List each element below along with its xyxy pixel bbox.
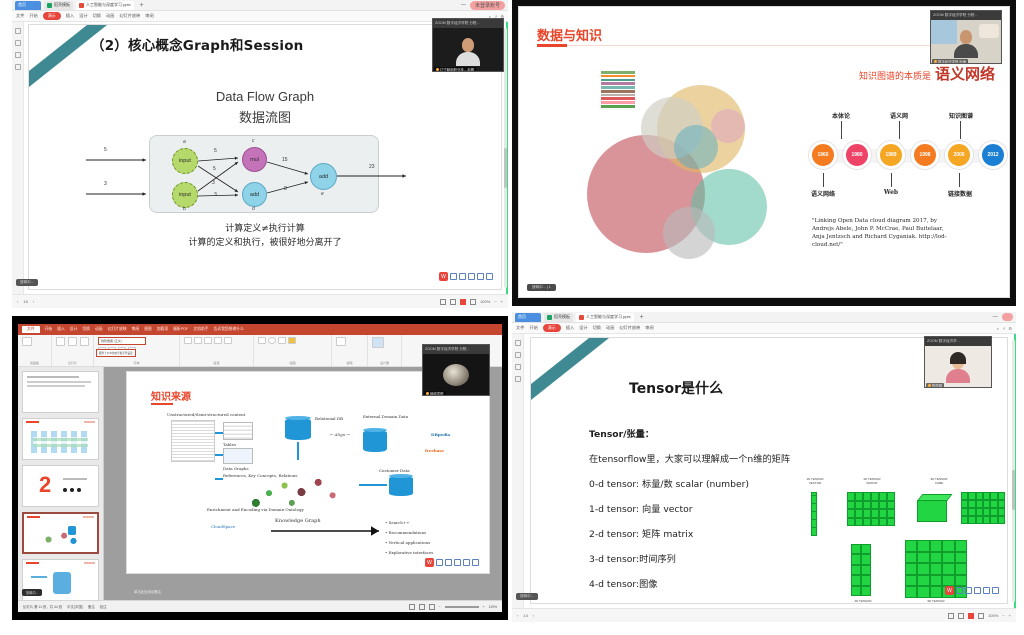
dfg-heading-en: Data Flow Graph [29,89,501,104]
pptx-file-icon [579,315,584,320]
knowledge-source-diagram: Unstructured/Semi-structured content Tab… [167,412,479,567]
title-underline-light [537,45,989,46]
pointer-icon[interactable] [459,273,466,280]
ribbon-group-designer-label: 设计器 [380,361,389,365]
zoom-video-tile: 数字经济学院 孙海 [931,20,1001,64]
rail-icon-thumbnail[interactable] [15,40,21,46]
tab-presentation[interactable]: 人工智能与深度学习.pptx [576,313,634,322]
wps-logo-icon: W [439,272,448,281]
timeline-dot-5-year: 2012 [987,152,998,158]
timeline-arrow-below-2 [959,173,960,187]
thumbnail-3-number: 2 [39,474,51,496]
slide-thumbnail-panel[interactable]: 2 放映中... [18,367,104,600]
zoom-level-label[interactable]: 100% [988,613,998,618]
timeline-dot-1-year: 1980 [851,152,862,158]
slide-title: Tensor是什么 [629,378,723,398]
wps-status-bar[interactable]: ‹ 15 › 100% − + [12,294,508,308]
tab-presentation-label: 人工智能与深度学习.pptx [586,314,631,320]
diagram-label-9: Customer Data [379,468,410,473]
diagram-label-12: Knowledge Graph [275,518,321,524]
font-family-combo[interactable]: 微软雅黑 (正文) [98,337,146,345]
output-edge-value: 23 [369,164,375,170]
view-reading-icon[interactable] [978,613,984,619]
avatar [455,36,481,66]
zoom-in-icon[interactable]: + [483,605,485,609]
ribbon-group-drawing-label: 绘图 [289,361,295,365]
ribbon-group-editing[interactable]: 编辑 [332,335,368,366]
input-edge-top-value: 5 [104,147,107,153]
bullet-3: • Explorative interfaces [385,550,433,555]
shape-rect-icon[interactable] [258,337,266,344]
pointer-icon[interactable] [965,587,972,594]
new-tab-button[interactable]: + [137,2,147,9]
zoom-header-label: ZOOM 数字经济学院 分院... [435,21,480,26]
tab-presentation-label: 人工智能与深度学习.pptx [86,2,131,8]
zoom-video-overlay[interactable]: ZOOM 数字经济学... 陈丽明 [924,336,992,388]
designer-icon[interactable] [372,337,384,348]
ribbon-group-font-label: 字体 [133,361,139,365]
ribbon-tab-foxit[interactable]: 福昕PDF [173,327,188,332]
tensor-art-label-4: 5D TENSOR MATRIX OF CUBES [903,600,969,604]
minimize-icon[interactable]: — [993,314,998,320]
scrollbar-thumb[interactable] [504,148,507,188]
kg-claim-highlight: 语义网络 [935,63,995,84]
status-pill-label: 放映中... [20,280,34,285]
avatar [953,28,979,58]
tensor-line-2: 0-d tensor: 标量/数 scalar (number) [589,476,790,490]
zoom-overlay-header: ZOOM 数字经济学院 分院... [931,11,1001,20]
slide-title: （2）核心概念Graph和Session [91,34,303,54]
wps-floating-toolbar[interactable]: W [945,586,999,595]
toolbar-item-insert[interactable]: 插入 [566,325,574,331]
tensor-3d-cube [917,500,947,522]
wps-doc-icon [47,3,52,8]
slide-thumbnail-4[interactable] [22,512,99,554]
diagram-label-7: DBpedia [431,432,450,437]
zoom-participant-name: 辽宁邮电职业技... 赵刚 [434,67,476,72]
rail-icon-comment[interactable] [515,376,521,382]
zoom-in-icon[interactable]: + [1009,613,1011,618]
pen-icon[interactable] [450,273,457,280]
timeline-arrow-above-0 [841,121,842,139]
slide-thumbnail-2[interactable] [22,418,99,460]
toolbar-item-design[interactable]: 设计 [79,13,87,19]
ribbon-tab-design[interactable]: 设计 [70,327,78,332]
annotation-toolbar[interactable]: W [425,558,479,567]
account-pill[interactable] [1002,313,1013,321]
teal-corner-inner [531,338,589,384]
zoom-video-overlay[interactable]: ZOOM 数字经济学院 分院... 网络学院 [422,344,490,396]
timeline-arrow-below-1 [891,173,892,187]
status-right-group[interactable]: 100% − + [948,613,1011,619]
timeline-label-below-1: Web [867,189,915,196]
rail-icon-thumbnail[interactable] [515,352,521,358]
tab-home-label: 首页 [18,2,26,8]
zoom-overlay-header: ZOOM 数字经济学... [925,337,991,346]
layout-button[interactable] [68,337,77,346]
slide-footer-line-1: 计算定义≠执行计算 [29,221,501,234]
ribbon-tab-slideshow[interactable]: 幻灯片放映 [108,327,127,332]
toolbar-right-icons[interactable]: ⌕ ↗ ⚙ [997,326,1012,331]
page-nav-next[interactable]: › [33,299,34,304]
timeline-dot-0: 1960 [809,141,837,169]
diagram-label-5: External Domain Data [363,414,408,419]
ribbon-group-drawing[interactable]: 绘图 [254,335,332,366]
align-left-button[interactable] [204,337,212,344]
kg-claim: 知识图谱的本质是 语义网络 [859,63,995,84]
toolbar-item-insert[interactable]: 插入 [66,13,74,19]
zoom-participant-name: 陈丽明 [926,383,944,388]
recording-status-pill: 放映中... | 1 [527,284,556,291]
diagram-label-11: CloudSpace [211,524,235,529]
more-icon[interactable] [992,587,999,594]
notes-placeholder[interactable]: 单击此处添加备注 [134,589,161,594]
bullet-0: • Search++ [385,520,433,525]
rail-icon-outline[interactable] [15,28,21,34]
minimize-icon[interactable]: — [461,2,466,8]
timeline-dot-5: 2012 [979,141,1007,169]
new-slide-button[interactable] [56,337,65,346]
wps-floating-toolbar[interactable]: W [439,272,493,281]
zoom-participant-name: 网络学院 [424,391,446,396]
mic-icon[interactable] [468,273,475,280]
status-right-group[interactable]: − + 119% [409,604,497,610]
kg-claim-prefix: 知识图谱的本质是 [859,69,931,82]
pen-icon[interactable] [956,587,963,594]
zoom-in-icon[interactable]: + [501,299,503,304]
timeline-arrow-above-2 [960,121,961,139]
timeline-dot-3: 1998 [911,141,939,169]
gear-icon[interactable]: ⚙ [1008,326,1012,331]
tensor-art-label-0: 1D TENSOR VECTOR [795,478,835,486]
vertical-scrollbar[interactable] [1012,340,1015,602]
wps-left-rail[interactable] [512,334,524,608]
ribbon-group-font[interactable]: 微软雅黑 (正文) 字体 服务于公众的文字和字符设定 [94,335,180,366]
toolbar-item-review[interactable]: 审阅 [645,325,653,331]
page-indicator[interactable]: 14 [523,613,527,618]
present-button[interactable]: 演示 [543,324,561,332]
bullets-button[interactable] [184,337,192,344]
tensor-line-4: 2-d tensor: 矩阵 matrix [589,526,790,540]
rail-icon-comment[interactable] [15,64,21,70]
wps-tab-strip[interactable]: 首页 稻壳模板 人工智能与深度学习.pptx + — 未登录账号 [12,0,508,11]
zoom-video-overlay[interactable]: ZOOM 数字经济学院 分院... 辽宁邮电职业技... 赵刚 [432,18,504,72]
ribbon-group-clipboard-label: 剪贴板 [30,361,39,365]
page-nav-next[interactable]: › [533,613,534,618]
lod-legend [601,71,635,109]
page-nav-prev[interactable]: ‹ [517,613,518,618]
tensor-definition-list: Tensor/张量： 在tensorflow里，大家可以理解成一个n维的矩阵 0… [589,426,790,604]
tensor-1d-vector [811,492,817,536]
view-reading-icon[interactable] [470,299,476,305]
tensor-line-6: 4-d tensor:图像 [589,576,790,590]
tab-templates[interactable]: 稻壳模板 [544,313,573,322]
slide-title: 知识来源 [151,388,191,403]
timeline-label-below-0: 语义网络 [799,189,847,198]
diagram-label-0: Unstructured/Semi-structured content [167,412,245,417]
ribbon-tab-home[interactable]: 开始 [45,327,53,332]
timeline-label-above-2: 知识图谱 [937,111,985,120]
recording-status-pill: 放映中... [516,593,538,600]
mic-icon[interactable] [454,559,461,566]
tensor-art-label-2: 3D TENSOR CUBE [915,478,963,486]
toolbar-item-review[interactable]: 审阅 [145,13,153,19]
zoom-slider[interactable] [445,606,479,608]
view-normal-icon[interactable] [948,613,954,619]
screen-icon[interactable] [983,587,990,594]
zoom-level-label[interactable]: 119% [489,605,497,609]
notes-button[interactable]: 备注 [88,604,95,609]
align-right-button[interactable] [224,337,232,344]
share-icon[interactable]: ↗ [1002,326,1005,331]
window-controls[interactable]: — [993,313,1013,321]
tab-home-label: 首页 [518,314,526,320]
slide-canvas-graph-session: （2）核心概念Graph和Session Data Flow Graph 数据流… [28,24,502,290]
screen-icon[interactable] [477,273,484,280]
citation-text: "Linking Open Data cloud diagram 2017, b… [812,217,957,249]
window-controls[interactable]: — 未登录账号 [461,1,505,10]
toolbar-item-slideshow[interactable]: 幻灯片放映 [119,13,140,19]
shape-circle-icon[interactable] [268,337,276,344]
scrollbar-thumb[interactable] [1012,470,1015,510]
view-reading-icon[interactable] [429,604,435,610]
ribbon-group-slides[interactable]: 幻灯片 [52,335,94,366]
wps-toolbar[interactable]: 文件 开始 演示 插入 设计 切换 动画 幻灯片放映 审阅 ⌕ ↗ ⚙ [512,323,1016,334]
find-button[interactable] [336,337,346,346]
zoom-header-label: ZOOM 数字经济学院 分院... [933,13,978,18]
ribbon-group-paragraph-label: 段落 [213,361,219,365]
tensor-art-label-3: 4D TENSOR VECTOR OF CUBES [837,600,889,604]
view-sorter-icon[interactable] [450,299,456,305]
toolbar-item-transition[interactable]: 切换 [93,13,101,19]
slide-title: 数据与知识 [537,25,602,44]
wps-logo-icon: W [945,586,954,595]
toolbar-item-slideshow[interactable]: 幻灯片放映 [619,325,640,331]
panel-bottom-left: 文件 开始 插入 设计 切换 动画 幻灯片放映 审阅 视图 加载项 福昕PDF … [12,316,508,620]
ppt-ribbon-tabs[interactable]: 文件 开始 插入 设计 切换 动画 幻灯片放映 审阅 视图 加载项 福昕PDF … [18,324,502,335]
screen-montage: 首页 稻壳模板 人工智能与深度学习.pptx + — 未登录账号 文件 开始 演… [0,0,1024,635]
graph-io-arrows [84,135,414,225]
tab-templates[interactable]: 稻壳模板 [44,1,73,10]
timeline-dot-1: 1980 [843,141,871,169]
mic-icon[interactable] [974,587,981,594]
bullet-1: • Recommendations [385,530,433,535]
ribbon-group-slides-label: 幻灯片 [68,361,77,365]
toolbar-item-file[interactable]: 文件 [516,325,524,331]
tab-home[interactable]: 首页 [15,1,41,10]
pen-icon[interactable] [436,559,443,566]
vertical-scrollbar[interactable] [504,28,507,288]
wps-tab-strip[interactable]: 首页 稻壳模板 人工智能与深度学习.pptx + — [512,312,1016,323]
lod-cloud-diagram [579,57,794,272]
ppt-status-bar[interactable]: 幻灯片 第 11 张，共 44 张 中文(中国) 备注 批注 − + 119% [18,600,502,612]
ribbon-group-paragraph[interactable]: 段落 [180,335,254,366]
panel-top-left: 首页 稻壳模板 人工智能与深度学习.pptx + — 未登录账号 文件 开始 演… [12,0,508,308]
recording-status-pill: 放映中... [22,589,42,596]
account-pill[interactable]: 未登录账号 [470,1,505,10]
diagram-label-1: Tables [223,442,236,447]
view-sorter-icon[interactable] [419,604,425,610]
rail-icon-outline[interactable] [515,340,521,346]
new-tab-button[interactable]: + [637,314,647,321]
page-nav-prev[interactable]: ‹ [17,299,18,304]
zoom-video-tile: 陈丽明 [925,346,991,388]
timeline-dot-4: 2006 [945,141,973,169]
diagram-label-8: freebase [425,448,444,453]
font-tooltip: 服务于公众的文字和字符设定 [96,349,136,357]
paste-button[interactable] [22,337,32,346]
more-icon[interactable] [472,559,479,566]
toolbar-item-design[interactable]: 设计 [579,325,587,331]
timeline-dot-2: 1989 [877,141,905,169]
status-right-group[interactable]: 100% − + [440,299,503,305]
tab-templates-label: 稻壳模板 [554,314,570,320]
zoom-overlay-header: ZOOM 数字经济学院 分院... [433,19,503,28]
toolbar-item-animation[interactable]: 动画 [106,13,114,19]
present-button[interactable]: 演示 [43,12,61,20]
zoom-out-icon[interactable]: − [1002,613,1004,618]
timeline-dot-3-year: 1998 [919,152,930,158]
language-indicator[interactable]: 中文(中国) [67,604,83,609]
diagram-label-10: Enrichment and Encoding via Domain Ontol… [207,508,304,513]
shape-arrow-icon[interactable] [278,337,286,344]
wps-doc-icon [547,315,552,320]
zoom-video-tile: 网络学院 [423,354,489,396]
semantic-web-timeline: 本体论 语义网 知识图谱 1960 1980 1989 1998 [797,107,1010,207]
pptx-file-icon [79,3,84,8]
ribbon-group-editing-label: 编辑 [346,361,352,365]
view-normal-icon[interactable] [440,299,446,305]
comments-button[interactable]: 批注 [100,604,107,609]
zoom-out-icon[interactable]: − [494,299,496,304]
ribbon-tab-animations[interactable]: 动画 [95,327,103,332]
zoom-header-label: ZOOM 数字经济学... [927,339,960,344]
panel-top-right: 数据与知识 [512,0,1016,306]
ribbon-tab-addins[interactable]: 加载项 [157,327,168,332]
zoom-overlay-header: ZOOM 数字经济学院 分院... [423,345,489,354]
tensor-2d-matrix [847,492,895,526]
toolbar-item-start[interactable]: 开始 [529,325,537,331]
view-sorter-icon[interactable] [958,613,964,619]
tensor-line-7: 5-d tensor:视频 [589,601,790,604]
ribbon-tab-view[interactable]: 视图 [144,327,152,332]
toolbar-item-start[interactable]: 开始 [29,13,37,19]
wps-left-rail[interactable] [12,22,24,294]
record-icon[interactable] [460,299,466,305]
rail-icon-notes[interactable] [515,364,521,370]
page-indicator[interactable]: 15 [23,299,27,304]
rail-icon-notes[interactable] [15,52,21,58]
bullet-2: • Vertical applications [385,540,433,545]
recording-status-pill: 放映中... [16,279,38,286]
numbering-button[interactable] [194,337,202,344]
timeline-dot-2-year: 1989 [885,152,896,158]
title-underline-accent [537,44,567,47]
timeline-arrow-above-1 [899,121,900,139]
more-icon[interactable] [486,273,493,280]
ribbon-tab-file[interactable]: 文件 [22,326,40,333]
toolbar-item-animation[interactable]: 动画 [606,325,614,331]
ribbon-tab-review[interactable]: 审阅 [132,327,140,332]
timeline-dot-0-year: 1960 [817,152,828,158]
diagram-label-6: ← Align → [330,432,350,437]
ribbon-tab-transitions[interactable]: 切换 [82,327,90,332]
diagram-label-4: Relational DB [315,416,343,421]
search-icon[interactable]: ⌕ [997,326,999,331]
tensor-line-0: Tensor/张量： [589,426,790,440]
slide-canvas-knowledge-source: 知识来源 Unstructured/Semi-structured conten… [126,371,490,574]
zoom-video-overlay[interactable]: ZOOM 数字经济学院 分院... 数字经济学院 孙海 [930,10,1002,64]
teal-corner-inner [29,25,87,71]
dfg-heading-cn: 数据流图 [29,107,501,126]
title-underline-accent [151,403,173,405]
tab-home[interactable]: 首页 [515,313,541,322]
ribbon-tab-docassist[interactable]: 文档助手 [193,327,208,332]
shape-fill-icon[interactable] [288,337,296,344]
tensor-4d-stack [961,492,1005,524]
slide-footer-line-2: 计算的定义和执行，被很好地分离开了 [29,235,501,248]
zoom-out-icon[interactable]: − [439,605,441,609]
toolbar-item-file[interactable]: 文件 [16,13,24,19]
timeline-arrow-below-0 [823,173,824,187]
tensor-art-label-1: 2D TENSOR MATRIX [845,478,899,486]
slide-thumbnail-3[interactable]: 2 [22,465,99,507]
tensor-3d-cube-top [917,494,952,501]
timeline-dot-4-year: 2006 [953,152,964,158]
zoom-video-tile: 辽宁邮电职业技... 赵刚 [433,28,503,72]
tensor-line-3: 1-d tensor: 向量 vector [589,501,790,515]
timeline-label-below-2: 链接数据 [935,189,985,198]
zoom-participant-name: 数字经济学院 孙海 [932,59,968,64]
tensor-4d-vector-of-cubes [851,544,871,596]
input-edge-bottom-value: 3 [104,181,107,187]
slide-thumbnail-1[interactable] [22,371,99,413]
tab-templates-label: 稻壳模板 [54,2,70,8]
wps-status-bar[interactable]: ‹ 14 › 100% − + [512,608,1016,622]
ribbon-group-clipboard[interactable]: 剪贴板 [18,335,52,366]
slide-editing-stage: 知识来源 Unstructured/Semi-structured conten… [104,367,502,600]
tensor-line-1: 在tensorflow里，大家可以理解成一个n维的矩阵 [589,451,790,465]
screen-icon[interactable] [463,559,470,566]
panel-bottom-right: 首页 稻壳模板 人工智能与深度学习.pptx + — 文件 开始 演示 插入 设… [512,312,1016,622]
pointer-icon[interactable] [445,559,452,566]
zoom-level-label[interactable]: 100% [480,299,490,304]
align-center-button[interactable] [214,337,222,344]
wps-logo-icon: W [425,558,434,567]
ribbon-tab-insert[interactable]: 插入 [57,327,65,332]
toolbar-item-transition[interactable]: 切换 [593,325,601,331]
reset-button[interactable] [80,337,89,346]
zoom-header-label: ZOOM 数字经济学院 分院... [425,347,470,352]
timeline-label-above-1: 语义网 [879,111,919,120]
tensor-line-5: 3-d tensor:时间序列 [589,551,790,565]
record-icon[interactable] [968,613,974,619]
status-pill-label: 放映中... [520,594,534,599]
timeline-label-above-0: 本体论 [821,111,861,120]
tab-presentation[interactable]: 人工智能与深度学习.pptx [76,1,134,10]
ribbon-tab-tellme[interactable]: 告诉我您想做什么 [214,327,244,332]
ribbon-group-designer[interactable]: 设计器 [368,335,402,366]
slide-counter: 幻灯片 第 11 张，共 44 张 [23,604,62,609]
view-normal-icon[interactable] [409,604,415,610]
